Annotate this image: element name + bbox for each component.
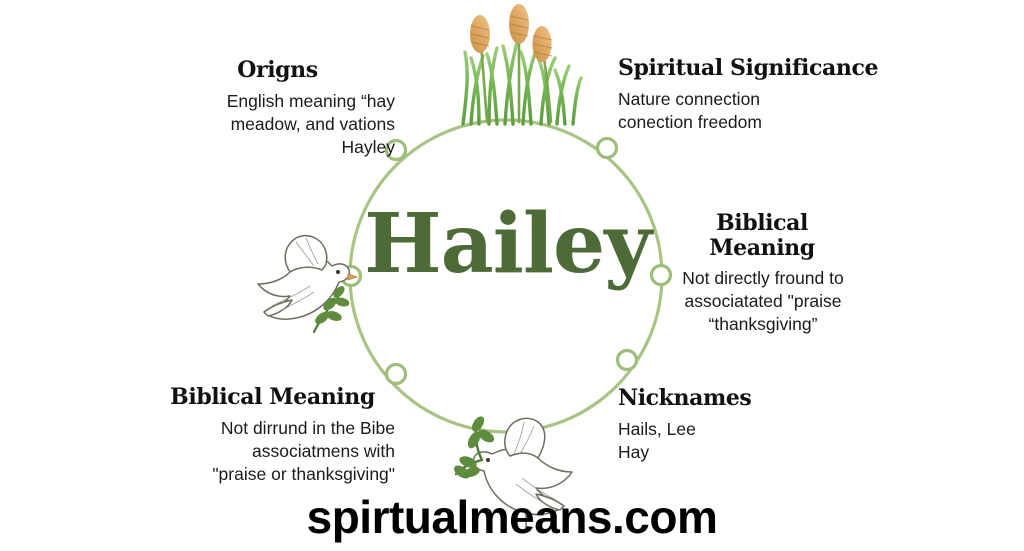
node-biblical-left-marker[interactable] — [387, 365, 406, 384]
block-spiritual-significance-line: conection freedom — [618, 111, 898, 134]
block-spiritual-significance-heading: Spiritual Significance — [618, 56, 898, 81]
block-origins-line: Hayley — [160, 136, 395, 159]
block-nicknames: Nicknames Hails, Lee Hay — [618, 386, 868, 464]
block-spiritual-significance-line: Nature connection — [618, 88, 898, 111]
block-nicknames-line: Hails, Lee — [618, 418, 868, 441]
block-biblical-meaning-right-line: associatated "praise — [668, 290, 858, 313]
block-biblical-meaning-right-line: Not directly fround to — [668, 267, 858, 290]
block-spiritual-significance: Spiritual Significance Nature connection… — [618, 56, 898, 134]
block-origins: Origns English meaning “hay meadow, and … — [160, 58, 395, 159]
block-biblical-meaning-right: Biblical Meaning Not directly fround to … — [668, 211, 928, 337]
block-nicknames-body: Hails, Lee Hay — [618, 418, 868, 464]
infographic-canvas: Hailey Origns English meaning “hay meado… — [0, 0, 1024, 551]
center-name: Hailey — [330, 203, 685, 285]
block-biblical-meaning-right-line: “thanksgiving” — [668, 313, 858, 336]
block-biblical-meaning-left-line: Not dirrund in the Bibe — [150, 417, 395, 440]
block-biblical-meaning-left-line: associatmens with — [150, 440, 395, 463]
block-biblical-meaning-left-line: "praise or thanksgiving" — [150, 463, 395, 486]
block-biblical-meaning-right-body: Not directly fround to associatated "pra… — [668, 267, 928, 336]
node-spiritual-marker[interactable] — [598, 139, 617, 158]
site-url[interactable]: spirtualmeans.com — [0, 494, 1024, 540]
block-biblical-meaning-right-heading: Biblical Meaning — [668, 211, 928, 260]
wheat-grass-icon — [443, 0, 593, 128]
block-origins-body: English meaning “hay meadow, and vations… — [160, 90, 395, 159]
node-nicknames-marker[interactable] — [618, 351, 637, 370]
block-nicknames-heading: Nicknames — [618, 386, 868, 411]
block-biblical-meaning-left-heading: Biblical Meaning — [150, 385, 395, 410]
block-biblical-meaning-left: Biblical Meaning Not dirrund in the Bibe… — [150, 385, 395, 486]
block-spiritual-significance-body: Nature connection conection freedom — [618, 88, 898, 134]
block-origins-heading: Origns — [160, 58, 395, 83]
block-origins-line: English meaning “hay — [160, 90, 395, 113]
block-nicknames-line: Hay — [618, 441, 868, 464]
block-biblical-meaning-left-body: Not dirrund in the Bibe associatmens wit… — [150, 417, 395, 486]
block-origins-line: meadow, and vations — [160, 113, 395, 136]
